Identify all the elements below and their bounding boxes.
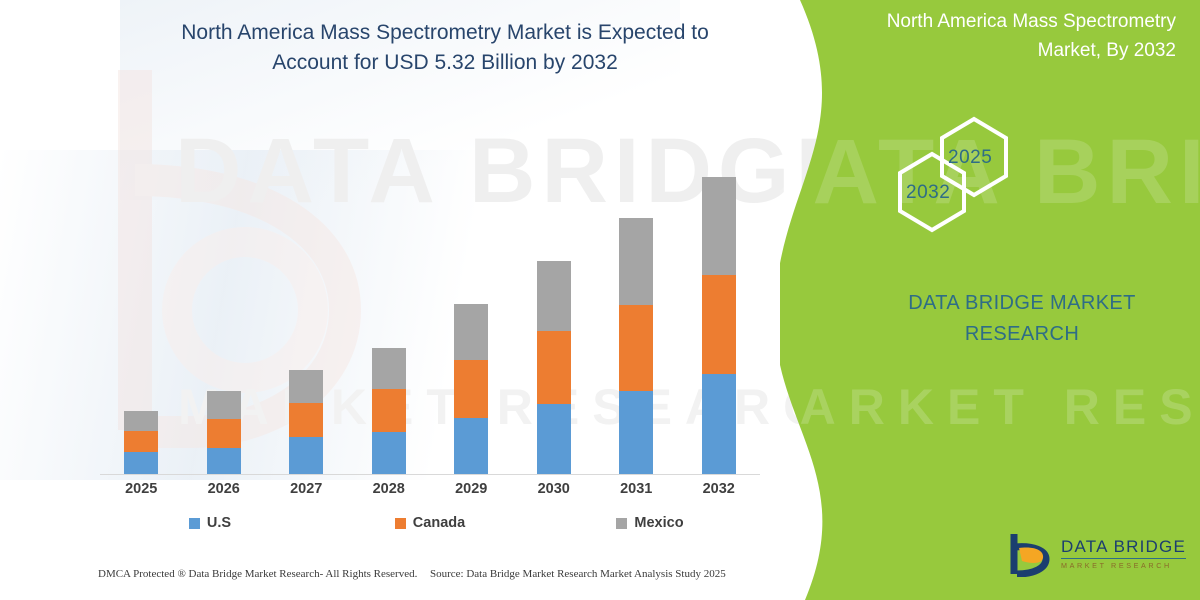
bar-segment-mexico-2029 [454, 304, 488, 360]
bar-segment-mexico-2032 [702, 177, 736, 275]
green-panel-title-line1: North America Mass Spectrometry [856, 8, 1176, 37]
green-panel: DATA BRIDGE MARKET RESEARCH North Americ… [780, 0, 1200, 600]
green-panel-brand-line2: RESEARCH [872, 319, 1172, 350]
bar-segment-mexico-2026 [207, 391, 241, 419]
logo-divider [1061, 558, 1186, 559]
x-axis-label-2026: 2026 [183, 481, 266, 505]
bar-segment-canada-2032 [702, 275, 736, 374]
logo-name: DATA BRIDGE [1061, 538, 1186, 555]
hexagon-shapes [890, 110, 1090, 250]
infographic-root: DATA BRIDGE MARKET RESEARCH North Americ… [0, 0, 1200, 600]
legend-label-mx: Mexico [634, 515, 683, 531]
green-panel-content: DATA BRIDGE MARKET RESEARCH North Americ… [780, 0, 1200, 600]
green-panel-title-line2: Market, By 2032 [856, 37, 1176, 66]
bar-segment-us-2031 [619, 391, 653, 474]
bar-segment-us-2027 [289, 437, 323, 474]
green-panel-brand-line1: DATA BRIDGE MARKET [872, 288, 1172, 319]
x-axis-label-2027: 2027 [265, 481, 348, 505]
bar-segment-us-2025 [124, 452, 158, 474]
stacked-bar [124, 411, 158, 474]
footer-dmca: DMCA Protected ® Data Bridge Market Rese… [98, 568, 417, 580]
stacked-bar [619, 218, 653, 474]
logo-text: DATA BRIDGE MARKET RESEARCH [1061, 538, 1186, 569]
stacked-bar [537, 261, 571, 474]
x-axis-label-2025: 2025 [100, 481, 183, 505]
bar-column-2026 [183, 150, 266, 474]
green-panel-title: North America Mass Spectrometry Market, … [856, 8, 1176, 65]
legend-label-us: U.S [207, 515, 231, 531]
legend-swatch-mx [616, 518, 627, 529]
bar-segment-canada-2031 [619, 305, 653, 391]
bar-column-2031 [595, 150, 678, 474]
stacked-bar [702, 177, 736, 474]
stacked-bar [289, 370, 323, 474]
bar-column-2027 [265, 150, 348, 474]
hexagon-right-label: 2025 [948, 147, 992, 169]
bar-segment-canada-2028 [372, 389, 406, 432]
stacked-bar [454, 304, 488, 474]
bar-column-2030 [513, 150, 596, 474]
bar-segment-us-2028 [372, 432, 406, 474]
bar-segment-canada-2030 [537, 331, 571, 404]
bar-column-2028 [348, 150, 431, 474]
logo-tagline: MARKET RESEARCH [1061, 562, 1186, 569]
company-logo: DATA BRIDGE MARKET RESEARCH [1010, 526, 1186, 582]
bar-segment-mexico-2030 [537, 261, 571, 331]
bar-segment-us-2032 [702, 374, 736, 474]
chart-legend: U.SCanadaMexico [100, 512, 760, 534]
x-axis-line [100, 474, 760, 475]
hexagon-left-label: 2032 [906, 182, 950, 204]
bar-segment-mexico-2028 [372, 348, 406, 389]
bar-segment-canada-2029 [454, 360, 488, 418]
legend-item-ca[interactable]: Canada [320, 515, 540, 531]
bar-segment-us-2029 [454, 418, 488, 474]
bar-column-2032 [678, 150, 761, 474]
bar-column-2029 [430, 150, 513, 474]
stacked-bar-chart: 20252026202720282029203020312032 U.SCana… [0, 0, 800, 600]
bar-segment-mexico-2027 [289, 370, 323, 403]
legend-swatch-us [189, 518, 200, 529]
legend-label-ca: Canada [413, 515, 465, 531]
bar-segment-us-2030 [537, 404, 571, 474]
x-axis-labels: 20252026202720282029203020312032 [100, 481, 760, 505]
stacked-bar [207, 391, 241, 474]
x-axis-label-2032: 2032 [678, 481, 761, 505]
legend-item-mx[interactable]: Mexico [540, 515, 760, 531]
x-axis-label-2031: 2031 [595, 481, 678, 505]
green-watermark-small: MARKET RESEARCH [780, 378, 1200, 436]
legend-item-us[interactable]: U.S [100, 515, 320, 531]
x-axis-label-2028: 2028 [348, 481, 431, 505]
hexagon-group: 2025 2032 [890, 110, 1090, 250]
stacked-bar [372, 348, 406, 474]
legend-swatch-ca [395, 518, 406, 529]
bar-segment-us-2026 [207, 448, 241, 474]
footer-source: Source: Data Bridge Market Research Mark… [430, 568, 726, 580]
bar-segment-mexico-2031 [619, 218, 653, 305]
bar-segment-canada-2026 [207, 419, 241, 448]
bar-segment-mexico-2025 [124, 411, 158, 431]
bar-segment-canada-2025 [124, 431, 158, 452]
bar-column-2025 [100, 150, 183, 474]
logo-b-mark-icon [1010, 531, 1052, 577]
green-panel-brand: DATA BRIDGE MARKET RESEARCH [872, 288, 1172, 350]
x-axis-label-2029: 2029 [430, 481, 513, 505]
bar-segment-canada-2027 [289, 403, 323, 437]
x-axis-label-2030: 2030 [513, 481, 596, 505]
chart-bars [100, 150, 760, 474]
logo-b-icon [1010, 531, 1052, 577]
